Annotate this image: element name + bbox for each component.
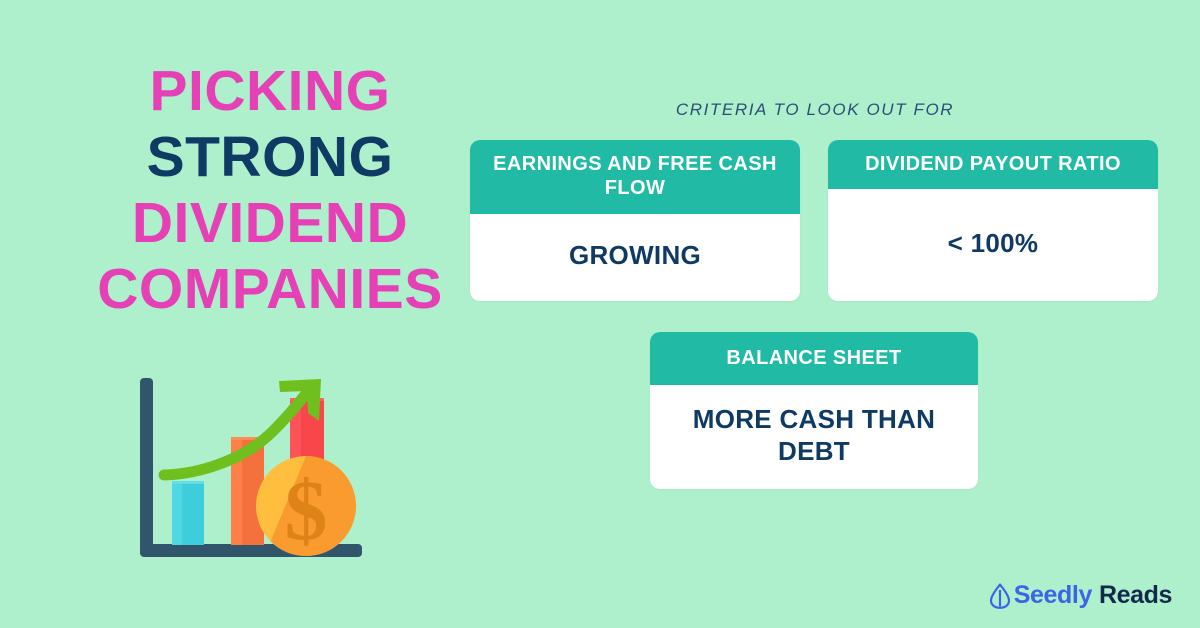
title-line-1: PICKING xyxy=(60,58,480,124)
criteria-card-header: DIVIDEND PAYOUT RATIO xyxy=(828,140,1158,189)
criteria-card-payout-ratio[interactable]: DIVIDEND PAYOUT RATIO < 100% xyxy=(828,140,1158,301)
criteria-card-value: < 100% xyxy=(828,189,1158,301)
infographic-canvas: PICKING STRONG DIVIDEND COMPANIES xyxy=(0,0,1200,628)
criteria-section-label: CRITERIA TO LOOK OUT FOR xyxy=(470,100,1160,120)
title-line-3: DIVIDEND xyxy=(60,190,480,256)
logo-text-secondary: Reads xyxy=(1099,581,1172,610)
seedly-reads-logo[interactable]: Seedly Reads xyxy=(989,581,1172,610)
title-line-2: STRONG xyxy=(60,124,480,190)
growth-chart-illustration: $ xyxy=(138,378,364,566)
title-line-4: COMPANIES xyxy=(60,256,480,322)
criteria-card-value: MORE CASH THAN DEBT xyxy=(650,385,978,489)
criteria-card-header: EARNINGS AND FREE CASH FLOW xyxy=(470,140,800,214)
criteria-card-balance-sheet[interactable]: BALANCE SHEET MORE CASH THAN DEBT xyxy=(650,332,978,489)
criteria-card-earnings[interactable]: EARNINGS AND FREE CASH FLOW GROWING xyxy=(470,140,800,301)
dollar-coin-icon: $ xyxy=(256,456,356,558)
logo-text-primary: Seedly xyxy=(1014,581,1092,610)
criteria-card-value: GROWING xyxy=(470,214,800,301)
page-title: PICKING STRONG DIVIDEND COMPANIES xyxy=(60,58,480,322)
svg-text:$: $ xyxy=(285,462,328,558)
chart-bar-1-icon xyxy=(172,481,204,545)
seedly-leaf-icon xyxy=(989,583,1011,609)
criteria-card-header: BALANCE SHEET xyxy=(650,332,978,385)
